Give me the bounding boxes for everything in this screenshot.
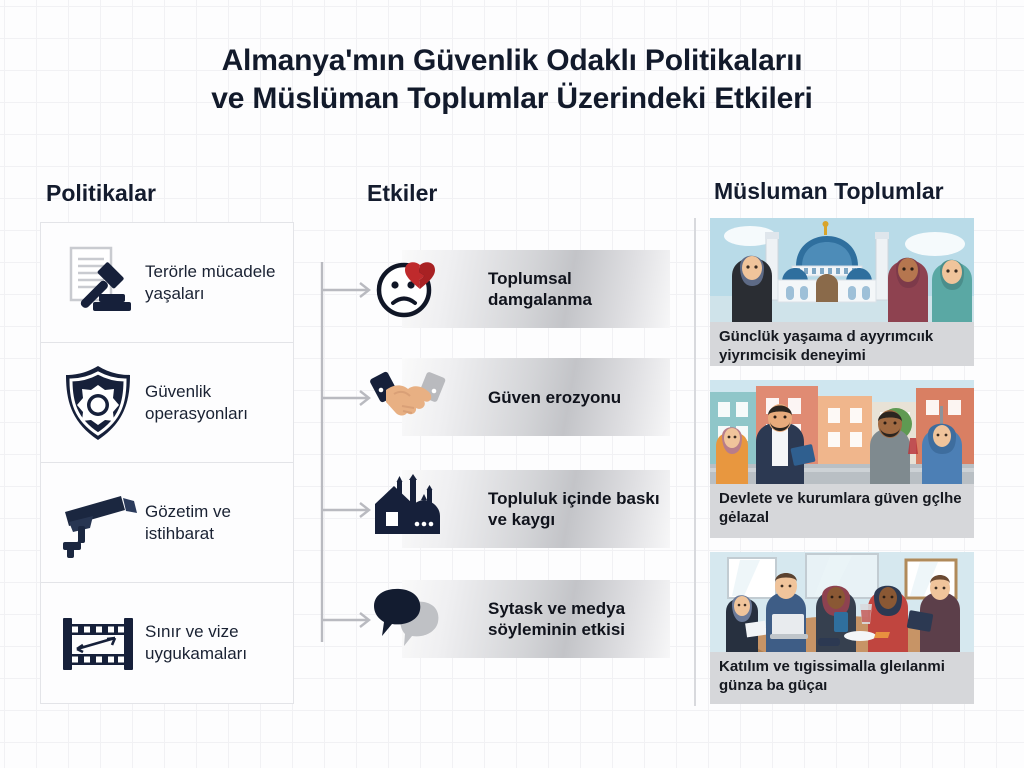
street-neighbours-scene <box>710 380 974 484</box>
cctv-camera-icon <box>55 480 141 566</box>
page-title-line-1: Almanya'mın Güvenlik Odaklı Politikaları… <box>0 42 1024 80</box>
effect-row-community-pressure[interactable]: Topluluk içinde baskı ve kaygı <box>372 470 670 548</box>
communities-column-heading: Müsluman Toplumlar <box>714 178 944 205</box>
page-title: Almanya'mın Güvenlik Odaklı Politikaları… <box>0 42 1024 118</box>
community-card-institutional-trust[interactable]: Devlete ve kurumlara güven gçlhe gėlazal <box>710 380 974 538</box>
policy-label: Sınır ve vize uygukamaları <box>141 621 281 665</box>
policy-card-security-operations[interactable]: Güvenlik operasyonları <box>41 343 293 463</box>
community-card-participation[interactable]: Katılım ve tıgissimalla gleılanmi günza … <box>710 552 974 704</box>
column-divider <box>694 218 696 706</box>
effects-column-heading: Etkiler <box>367 180 437 207</box>
page-title-line-2: ve Müslüman Toplumlar Üzerindeki Etkiler… <box>0 80 1024 118</box>
handshake-icon <box>372 364 450 430</box>
policy-label: Gözetim ve istihbarat <box>141 501 281 545</box>
border-barrier-icon <box>55 600 141 686</box>
policy-label: Terörle mücadele yaşaları <box>141 261 281 305</box>
shield-badge-icon <box>55 360 141 446</box>
policy-card-counterterror-laws[interactable]: Terörle mücadele yaşaları <box>41 223 293 343</box>
community-caption: Devlete ve kurumlara güven gçlhe gėlazal <box>710 484 974 533</box>
policy-card-surveillance-intelligence[interactable]: Gözetim ve istihbarat <box>41 463 293 583</box>
effect-row-social-stigma[interactable]: Toplumsal damgalanma <box>372 250 670 328</box>
policy-card-border-visa[interactable]: Sınır ve vize uygukamaları <box>41 583 293 703</box>
house-mosque-icon <box>372 476 450 542</box>
policy-to-effect-connectors <box>296 222 376 682</box>
speech-bubbles-icon <box>372 586 450 652</box>
policy-label: Güvenlik operasyonları <box>141 381 281 425</box>
policies-list: Terörle mücadele yaşaları Güvenlik opera… <box>40 222 294 704</box>
effect-row-media-discourse[interactable]: Sytask ve medya söyleminin etkisi <box>372 580 670 658</box>
community-caption: Günclük yaşaıma d ayyrımcıık yiyrımcisik… <box>710 322 974 366</box>
sad-face-broken-heart-icon <box>372 256 450 322</box>
community-caption: Katılım ve tıgissimalla gleılanmi günza … <box>710 652 974 701</box>
effect-row-trust-erosion[interactable]: Güven erozyonu <box>372 358 670 436</box>
document-gavel-icon <box>55 240 141 326</box>
meeting-table-scene <box>710 552 974 652</box>
community-card-daily-discrimination[interactable]: Günclük yaşaıma d ayyrımcıık yiyrımcisik… <box>710 218 974 366</box>
mosque-women-scene <box>710 218 974 322</box>
policies-column-heading: Politikalar <box>46 180 156 207</box>
infographic-canvas: Almanya'mın Güvenlik Odaklı Politikaları… <box>0 0 1024 768</box>
